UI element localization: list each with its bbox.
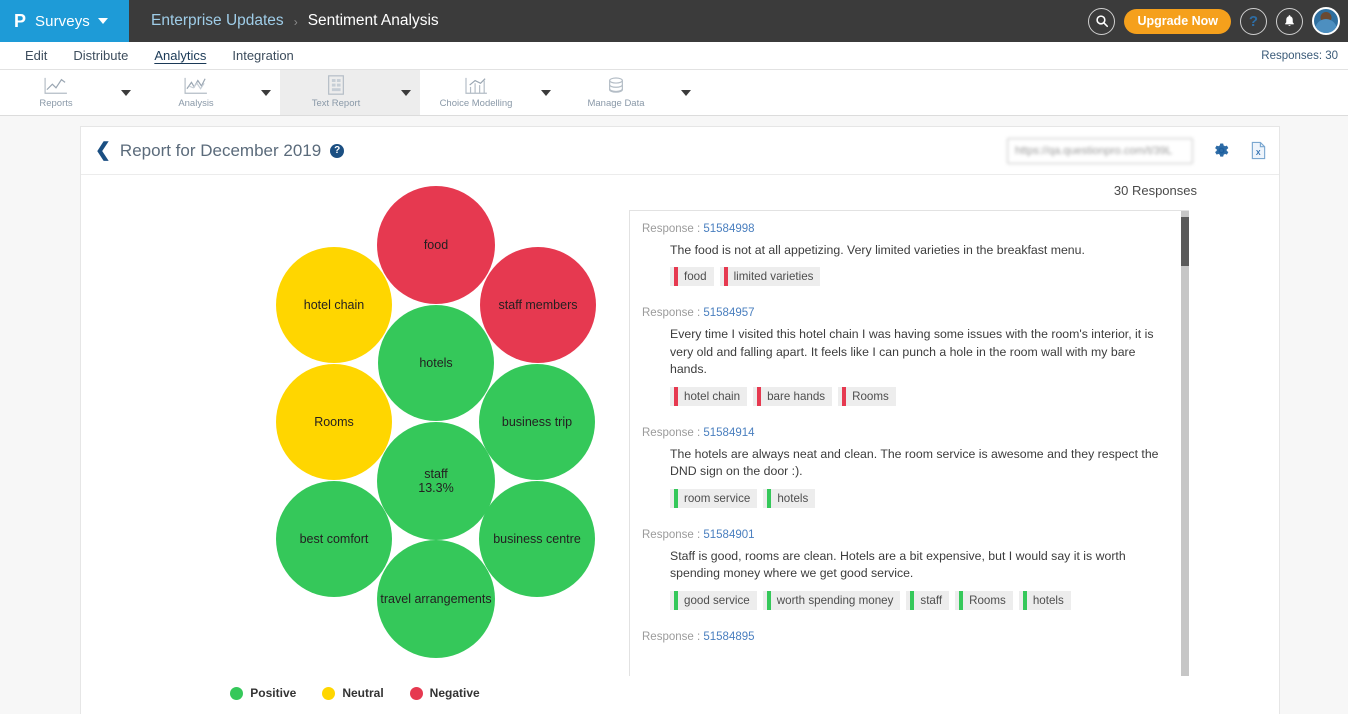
- sentiment-tag[interactable]: bare hands: [753, 387, 832, 406]
- toolbar-choice-modelling-button[interactable]: Choice Modelling: [420, 70, 532, 115]
- response-text: The hotels are always neat and clean. Th…: [670, 446, 1175, 481]
- bubble-label: staff members: [499, 298, 578, 312]
- response-item: Response : 51584914The hotels are always…: [642, 427, 1175, 508]
- sentiment-tag[interactable]: hotels: [763, 489, 815, 508]
- gear-icon[interactable]: [1213, 142, 1230, 159]
- nav-item-distribute[interactable]: Distribute: [60, 42, 141, 69]
- response-id-number[interactable]: 51584998: [703, 223, 754, 235]
- toolbar-manage-data-label: Manage Data: [587, 98, 644, 109]
- toolbar-analysis-label: Analysis: [178, 98, 213, 109]
- user-avatar[interactable]: [1312, 7, 1340, 35]
- bubble-label: hotels: [419, 356, 452, 370]
- toolbar-manage-data-button[interactable]: Manage Data: [560, 70, 672, 115]
- bubble-label: best comfort: [300, 532, 369, 546]
- sentiment-tag[interactable]: hotel chain: [670, 387, 747, 406]
- bubble-travel-arrangements[interactable]: travel arrangements: [377, 540, 495, 658]
- top-bar: P Surveys Enterprise Updates › Sentiment…: [0, 0, 1348, 42]
- toolbar-group-text-report: Text Report: [280, 70, 420, 115]
- bubble-percent: 13.3%: [418, 481, 453, 495]
- line-chart-icon: [43, 76, 69, 96]
- bubble-canvas: foodstaff membershotel chainRoomshotelsb…: [81, 175, 629, 662]
- bar-chart-icon: [463, 76, 489, 96]
- bubble-hotel-chain[interactable]: hotel chain: [276, 247, 392, 363]
- toolbar-choice-modelling-dropdown[interactable]: [532, 70, 560, 115]
- toolbar-group-choice-modelling: Choice Modelling: [420, 70, 560, 115]
- primary-nav: Edit Distribute Analytics Integration Re…: [0, 42, 1348, 70]
- legend-swatch-icon: [322, 687, 335, 700]
- response-tag-row: hotel chainbare handsRooms: [670, 387, 1175, 406]
- avatar-body-icon: [1315, 19, 1337, 33]
- sentiment-tag[interactable]: Rooms: [955, 591, 1013, 610]
- response-id: Response : 51584901: [642, 529, 1175, 541]
- toolbar-text-report-label: Text Report: [312, 98, 361, 109]
- bubble-business-centre[interactable]: business centre: [479, 481, 595, 597]
- help-circle-icon[interactable]: ?: [330, 144, 344, 158]
- chart-legend: PositiveNeutralNegative: [81, 686, 629, 700]
- toolbar-group-analysis: Analysis: [140, 70, 280, 115]
- response-text: Staff is good, rooms are clean. Hotels a…: [670, 548, 1175, 583]
- chevron-down-icon: [98, 18, 108, 24]
- toolbar-analysis-button[interactable]: Analysis: [140, 70, 252, 115]
- toolbar-manage-data-dropdown[interactable]: [672, 70, 700, 115]
- export-excel-icon[interactable]: X: [1250, 141, 1267, 160]
- sentiment-tag[interactable]: limited varieties: [720, 267, 821, 286]
- nav-item-integration[interactable]: Integration: [219, 42, 306, 69]
- response-id-number[interactable]: 51584957: [703, 307, 754, 319]
- response-tag-row: room servicehotels: [670, 489, 1175, 508]
- report-body: foodstaff membershotel chainRoomshotelsb…: [81, 175, 1279, 714]
- response-id: Response : 51584998: [642, 223, 1175, 235]
- legend-swatch-icon: [230, 687, 243, 700]
- sentiment-tag[interactable]: staff: [906, 591, 949, 610]
- response-tag-row: foodlimited varieties: [670, 267, 1175, 286]
- brand-label: Surveys: [35, 13, 90, 30]
- response-id-number[interactable]: 51584901: [703, 529, 754, 541]
- response-text: Every time I visited this hotel chain I …: [670, 326, 1175, 378]
- chevron-down-icon: [121, 90, 131, 96]
- chevron-down-icon: [401, 90, 411, 96]
- sentiment-tag[interactable]: room service: [670, 489, 757, 508]
- response-item: Response : 51584998The food is not at al…: [642, 223, 1175, 286]
- legend-item-negative[interactable]: Negative: [410, 686, 480, 700]
- response-id-number[interactable]: 51584914: [703, 427, 754, 439]
- response-item: Response : 51584895: [642, 631, 1175, 643]
- responses-scrollbar-track[interactable]: [1181, 211, 1189, 676]
- bubble-label: hotel chain: [304, 298, 364, 312]
- toolbar-group-manage-data: Manage Data: [560, 70, 700, 115]
- breadcrumb-separator-icon: ›: [294, 15, 298, 29]
- analytics-toolbar: Reports Analysis: [0, 70, 1348, 116]
- response-id: Response : 51584957: [642, 307, 1175, 319]
- scribble-chart-icon: [183, 76, 209, 96]
- toolbar-group-reports: Reports: [0, 70, 140, 115]
- nav-item-edit[interactable]: Edit: [12, 42, 60, 69]
- responses-panel: 30 Responses Response : 51584998The food…: [629, 175, 1279, 714]
- bubble-food[interactable]: food: [377, 186, 495, 304]
- bubble-rooms[interactable]: Rooms: [276, 364, 392, 480]
- questionpro-logo-icon: P: [14, 12, 26, 30]
- chevron-down-icon: [261, 90, 271, 96]
- toolbar-analysis-dropdown[interactable]: [252, 70, 280, 115]
- text-report-icon: [325, 76, 347, 96]
- response-item: Response : 51584901Staff is good, rooms …: [642, 529, 1175, 610]
- report-header-actions: https://qa.questionpro.com/t/39L X: [1007, 138, 1267, 164]
- toolbar-text-report-button[interactable]: Text Report: [280, 70, 392, 115]
- bubble-label: food: [424, 238, 448, 252]
- legend-item-neutral[interactable]: Neutral: [322, 686, 383, 700]
- svg-text:X: X: [1256, 149, 1261, 157]
- bubble-hotels[interactable]: hotels: [378, 305, 494, 421]
- bubble-label: Rooms: [314, 415, 354, 429]
- sentiment-tag[interactable]: Rooms: [838, 387, 896, 406]
- breadcrumb: Enterprise Updates › Sentiment Analysis: [151, 12, 439, 30]
- toolbar-reports-dropdown[interactable]: [112, 70, 140, 115]
- response-id-number[interactable]: 51584895: [703, 631, 754, 643]
- response-id: Response : 51584895: [642, 631, 1175, 643]
- database-icon: [605, 76, 627, 96]
- legend-label: Neutral: [342, 686, 383, 700]
- sentiment-tag[interactable]: hotels: [1019, 591, 1071, 610]
- sentiment-tag[interactable]: worth spending money: [763, 591, 901, 610]
- response-text: The food is not at all appetizing. Very …: [670, 242, 1175, 259]
- legend-label: Positive: [250, 686, 296, 700]
- legend-swatch-icon: [410, 687, 423, 700]
- response-tag-row: good serviceworth spending moneystaffRoo…: [670, 591, 1175, 610]
- breadcrumb-current: Sentiment Analysis: [308, 12, 439, 30]
- responses-total-label: 30 Responses: [629, 183, 1279, 198]
- toolbar-text-report-dropdown[interactable]: [392, 70, 420, 115]
- legend-label: Negative: [430, 686, 480, 700]
- search-icon[interactable]: [1088, 8, 1115, 35]
- bubble-label: business centre: [493, 532, 581, 546]
- report-card: ❮ Report for December 2019 ? https://qa.…: [80, 126, 1280, 714]
- bubble-best-comfort[interactable]: best comfort: [276, 481, 392, 597]
- help-icon[interactable]: ?: [1240, 8, 1267, 35]
- bubble-label: travel arrangements: [380, 592, 491, 606]
- responses-scrollbar-thumb[interactable]: [1181, 217, 1189, 266]
- bubble-label: staff: [424, 467, 447, 481]
- toolbar-choice-modelling-label: Choice Modelling: [440, 98, 513, 109]
- responses-list: Response : 51584998The food is not at al…: [630, 211, 1189, 643]
- breadcrumb-parent[interactable]: Enterprise Updates: [151, 12, 284, 30]
- back-arrow-icon[interactable]: ❮: [95, 141, 111, 160]
- bubble-business-trip[interactable]: business trip: [479, 364, 595, 480]
- notifications-bell-icon[interactable]: [1276, 8, 1303, 35]
- report-header: ❮ Report for December 2019 ? https://qa.…: [81, 127, 1279, 175]
- response-item: Response : 51584957Every time I visited …: [642, 307, 1175, 405]
- response-id: Response : 51584914: [642, 427, 1175, 439]
- nav-item-analytics[interactable]: Analytics: [141, 42, 219, 69]
- chevron-down-icon: [541, 90, 551, 96]
- page-title: Report for December 2019: [120, 141, 321, 161]
- sentiment-bubble-chart: foodstaff membershotel chainRoomshotelsb…: [81, 175, 629, 714]
- bubble-label: business trip: [502, 415, 572, 429]
- upgrade-now-button[interactable]: Upgrade Now: [1124, 9, 1231, 34]
- legend-item-positive[interactable]: Positive: [230, 686, 296, 700]
- responses-count-label: Responses: 30: [1261, 50, 1338, 62]
- chevron-down-icon: [681, 90, 691, 96]
- top-bar-actions: Upgrade Now ?: [1088, 7, 1348, 35]
- report-url-input[interactable]: https://qa.questionpro.com/t/39L: [1007, 138, 1193, 164]
- bubble-staff[interactable]: staff13.3%: [377, 422, 495, 540]
- sentiment-tag[interactable]: food: [670, 267, 714, 286]
- toolbar-reports-button[interactable]: Reports: [0, 70, 112, 115]
- responses-scroll-area[interactable]: Response : 51584998The food is not at al…: [629, 210, 1189, 676]
- bubble-staff-members[interactable]: staff members: [480, 247, 596, 363]
- toolbar-reports-label: Reports: [39, 98, 72, 109]
- brand-surveys-menu[interactable]: P Surveys: [0, 0, 129, 42]
- sentiment-tag[interactable]: good service: [670, 591, 757, 610]
- content-stage: ❮ Report for December 2019 ? https://qa.…: [0, 117, 1348, 714]
